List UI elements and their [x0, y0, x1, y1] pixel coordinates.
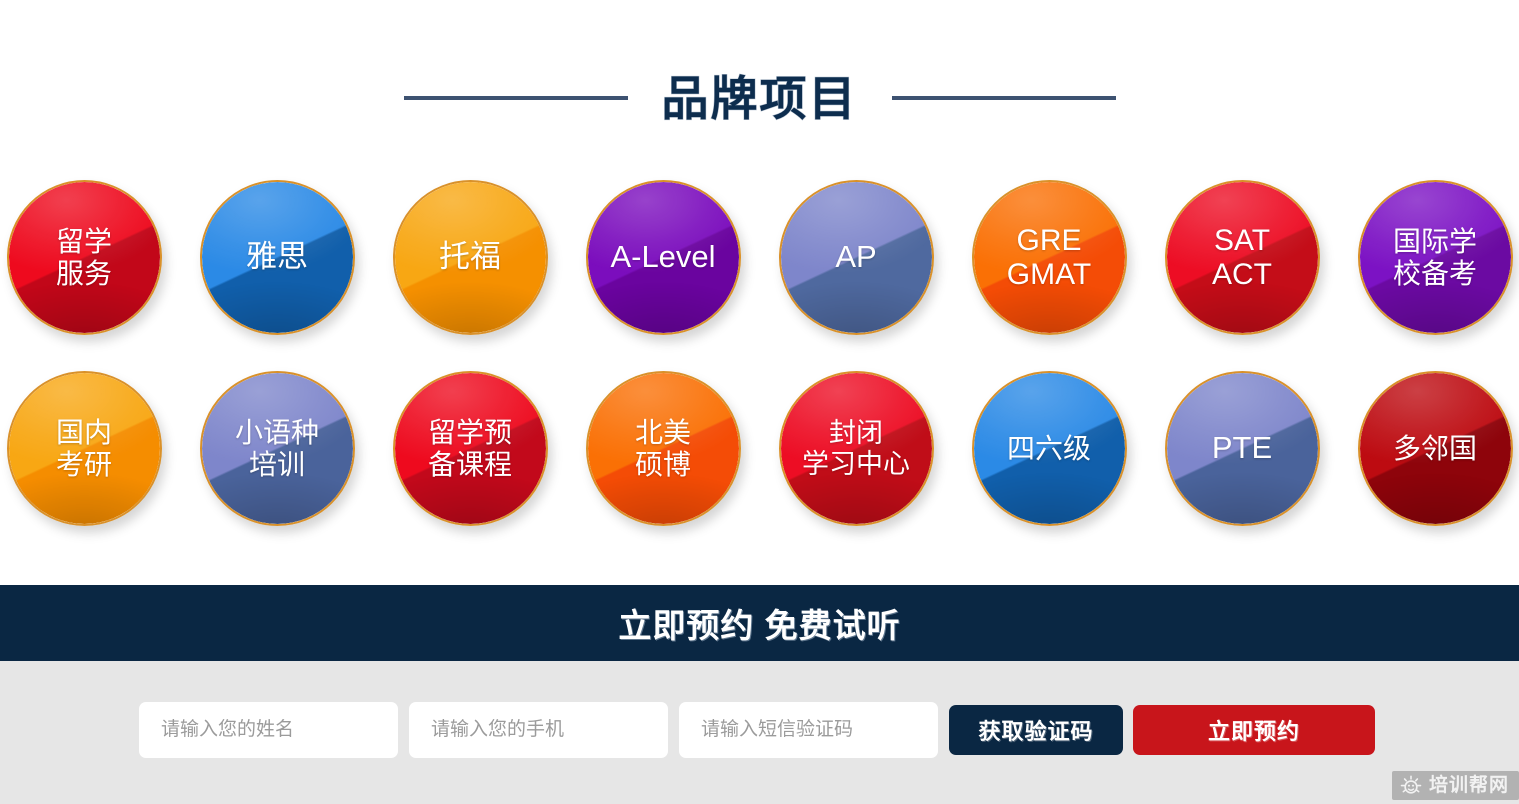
program-circle-yasi[interactable]: 雅思 — [200, 180, 355, 335]
submit-booking-button[interactable]: 立即预约 — [1133, 705, 1375, 755]
circle-disc[interactable]: A-Level — [586, 180, 741, 335]
program-circle-pte[interactable]: PTE — [1165, 371, 1320, 526]
program-label: 国内 考研 — [48, 417, 120, 480]
circle-disc[interactable]: GRE GMAT — [972, 180, 1127, 335]
heading-rule-right — [892, 96, 1116, 100]
program-circle-gre-gmat[interactable]: GRE GMAT — [972, 180, 1127, 335]
program-label: 雅思 — [238, 240, 316, 275]
section-heading: 品牌项目 — [0, 62, 1519, 134]
circle-disc[interactable]: 雅思 — [200, 180, 355, 335]
program-label: 留学 服务 — [48, 226, 120, 289]
circle-disc[interactable]: 北美 硕博 — [586, 371, 741, 526]
program-label: 国际学 校备考 — [1385, 226, 1485, 289]
booking-form: 获取验证码 立即预约 — [139, 702, 1375, 758]
program-circle-guoji-xuexiao-beikao[interactable]: 国际学 校备考 — [1358, 180, 1513, 335]
get-code-button[interactable]: 获取验证码 — [949, 705, 1123, 755]
program-label: 留学预 备课程 — [420, 417, 520, 480]
watermark-label: 培训帮网 — [1429, 776, 1509, 795]
program-label: 四六级 — [999, 433, 1099, 464]
page-title: 品牌项目 — [662, 75, 858, 122]
program-circle-guonei-kaoyan[interactable]: 国内 考研 — [7, 371, 162, 526]
program-circle-fengbi-xuexi-zhongxin[interactable]: 封闭 学习中心 — [779, 371, 934, 526]
program-circle-beimei-shuobo[interactable]: 北美 硕博 — [586, 371, 741, 526]
brand-programs-page: 品牌项目 留学 服务 雅思 托福 A-Level — [0, 0, 1519, 804]
phone-input[interactable] — [409, 702, 668, 758]
circle-disc[interactable]: 留学预 备课程 — [393, 371, 548, 526]
program-circle-tuofu[interactable]: 托福 — [393, 180, 548, 335]
program-circle-xiaoyuzhong-peixun[interactable]: 小语种 培训 — [200, 371, 355, 526]
circle-disc[interactable]: 小语种 培训 — [200, 371, 355, 526]
program-label: PTE — [1204, 431, 1280, 466]
program-circle-liuxue-yubei-kecheng[interactable]: 留学预 备课程 — [393, 371, 548, 526]
cta-banner: 立即预约 免费试听 — [0, 585, 1519, 661]
circle-disc[interactable]: 国内 考研 — [7, 371, 162, 526]
program-row-1: 留学 服务 雅思 托福 A-Level AP — [0, 180, 1519, 335]
booking-form-strip: 获取验证码 立即预约 — [0, 661, 1519, 804]
program-circle-siliuji[interactable]: 四六级 — [972, 371, 1127, 526]
circle-disc[interactable]: AP — [779, 180, 934, 335]
program-label: 小语种 培训 — [227, 417, 327, 480]
program-circle-liuxue-fuwu[interactable]: 留学 服务 — [7, 180, 162, 335]
circle-disc[interactable]: 国际学 校备考 — [1358, 180, 1513, 335]
program-label: AP — [827, 240, 884, 275]
program-label: A-Level — [602, 240, 723, 275]
name-input[interactable] — [139, 702, 398, 758]
program-label: 多邻国 — [1385, 433, 1485, 464]
program-label: 封闭 学习中心 — [794, 418, 918, 478]
circle-disc[interactable]: 留学 服务 — [7, 180, 162, 335]
circle-disc[interactable]: 四六级 — [972, 371, 1127, 526]
circle-disc[interactable]: SAT ACT — [1165, 180, 1320, 335]
program-circle-duolinguo[interactable]: 多邻国 — [1358, 371, 1513, 526]
sun-face-icon — [1400, 775, 1422, 797]
circle-disc[interactable]: 多邻国 — [1358, 371, 1513, 526]
heading-rule-left — [404, 96, 628, 100]
circle-disc[interactable]: 托福 — [393, 180, 548, 335]
circle-disc[interactable]: PTE — [1165, 371, 1320, 526]
program-row-2: 国内 考研 小语种 培训 留学预 备课程 北美 硕博 封闭 学习 — [0, 371, 1519, 526]
program-label: 托福 — [431, 240, 509, 275]
sms-code-input[interactable] — [679, 702, 938, 758]
program-label: GRE GMAT — [999, 224, 1099, 291]
program-circle-a-level[interactable]: A-Level — [586, 180, 741, 335]
program-label: 北美 硕博 — [627, 417, 699, 480]
site-watermark: 培训帮网 — [1392, 771, 1519, 800]
program-circle-grid: 留学 服务 雅思 托福 A-Level AP — [0, 180, 1519, 562]
program-circle-sat-act[interactable]: SAT ACT — [1165, 180, 1320, 335]
cta-banner-text: 立即预约 免费试听 — [618, 599, 900, 647]
program-label: SAT ACT — [1204, 224, 1280, 291]
program-circle-ap[interactable]: AP — [779, 180, 934, 335]
circle-disc[interactable]: 封闭 学习中心 — [779, 371, 934, 526]
